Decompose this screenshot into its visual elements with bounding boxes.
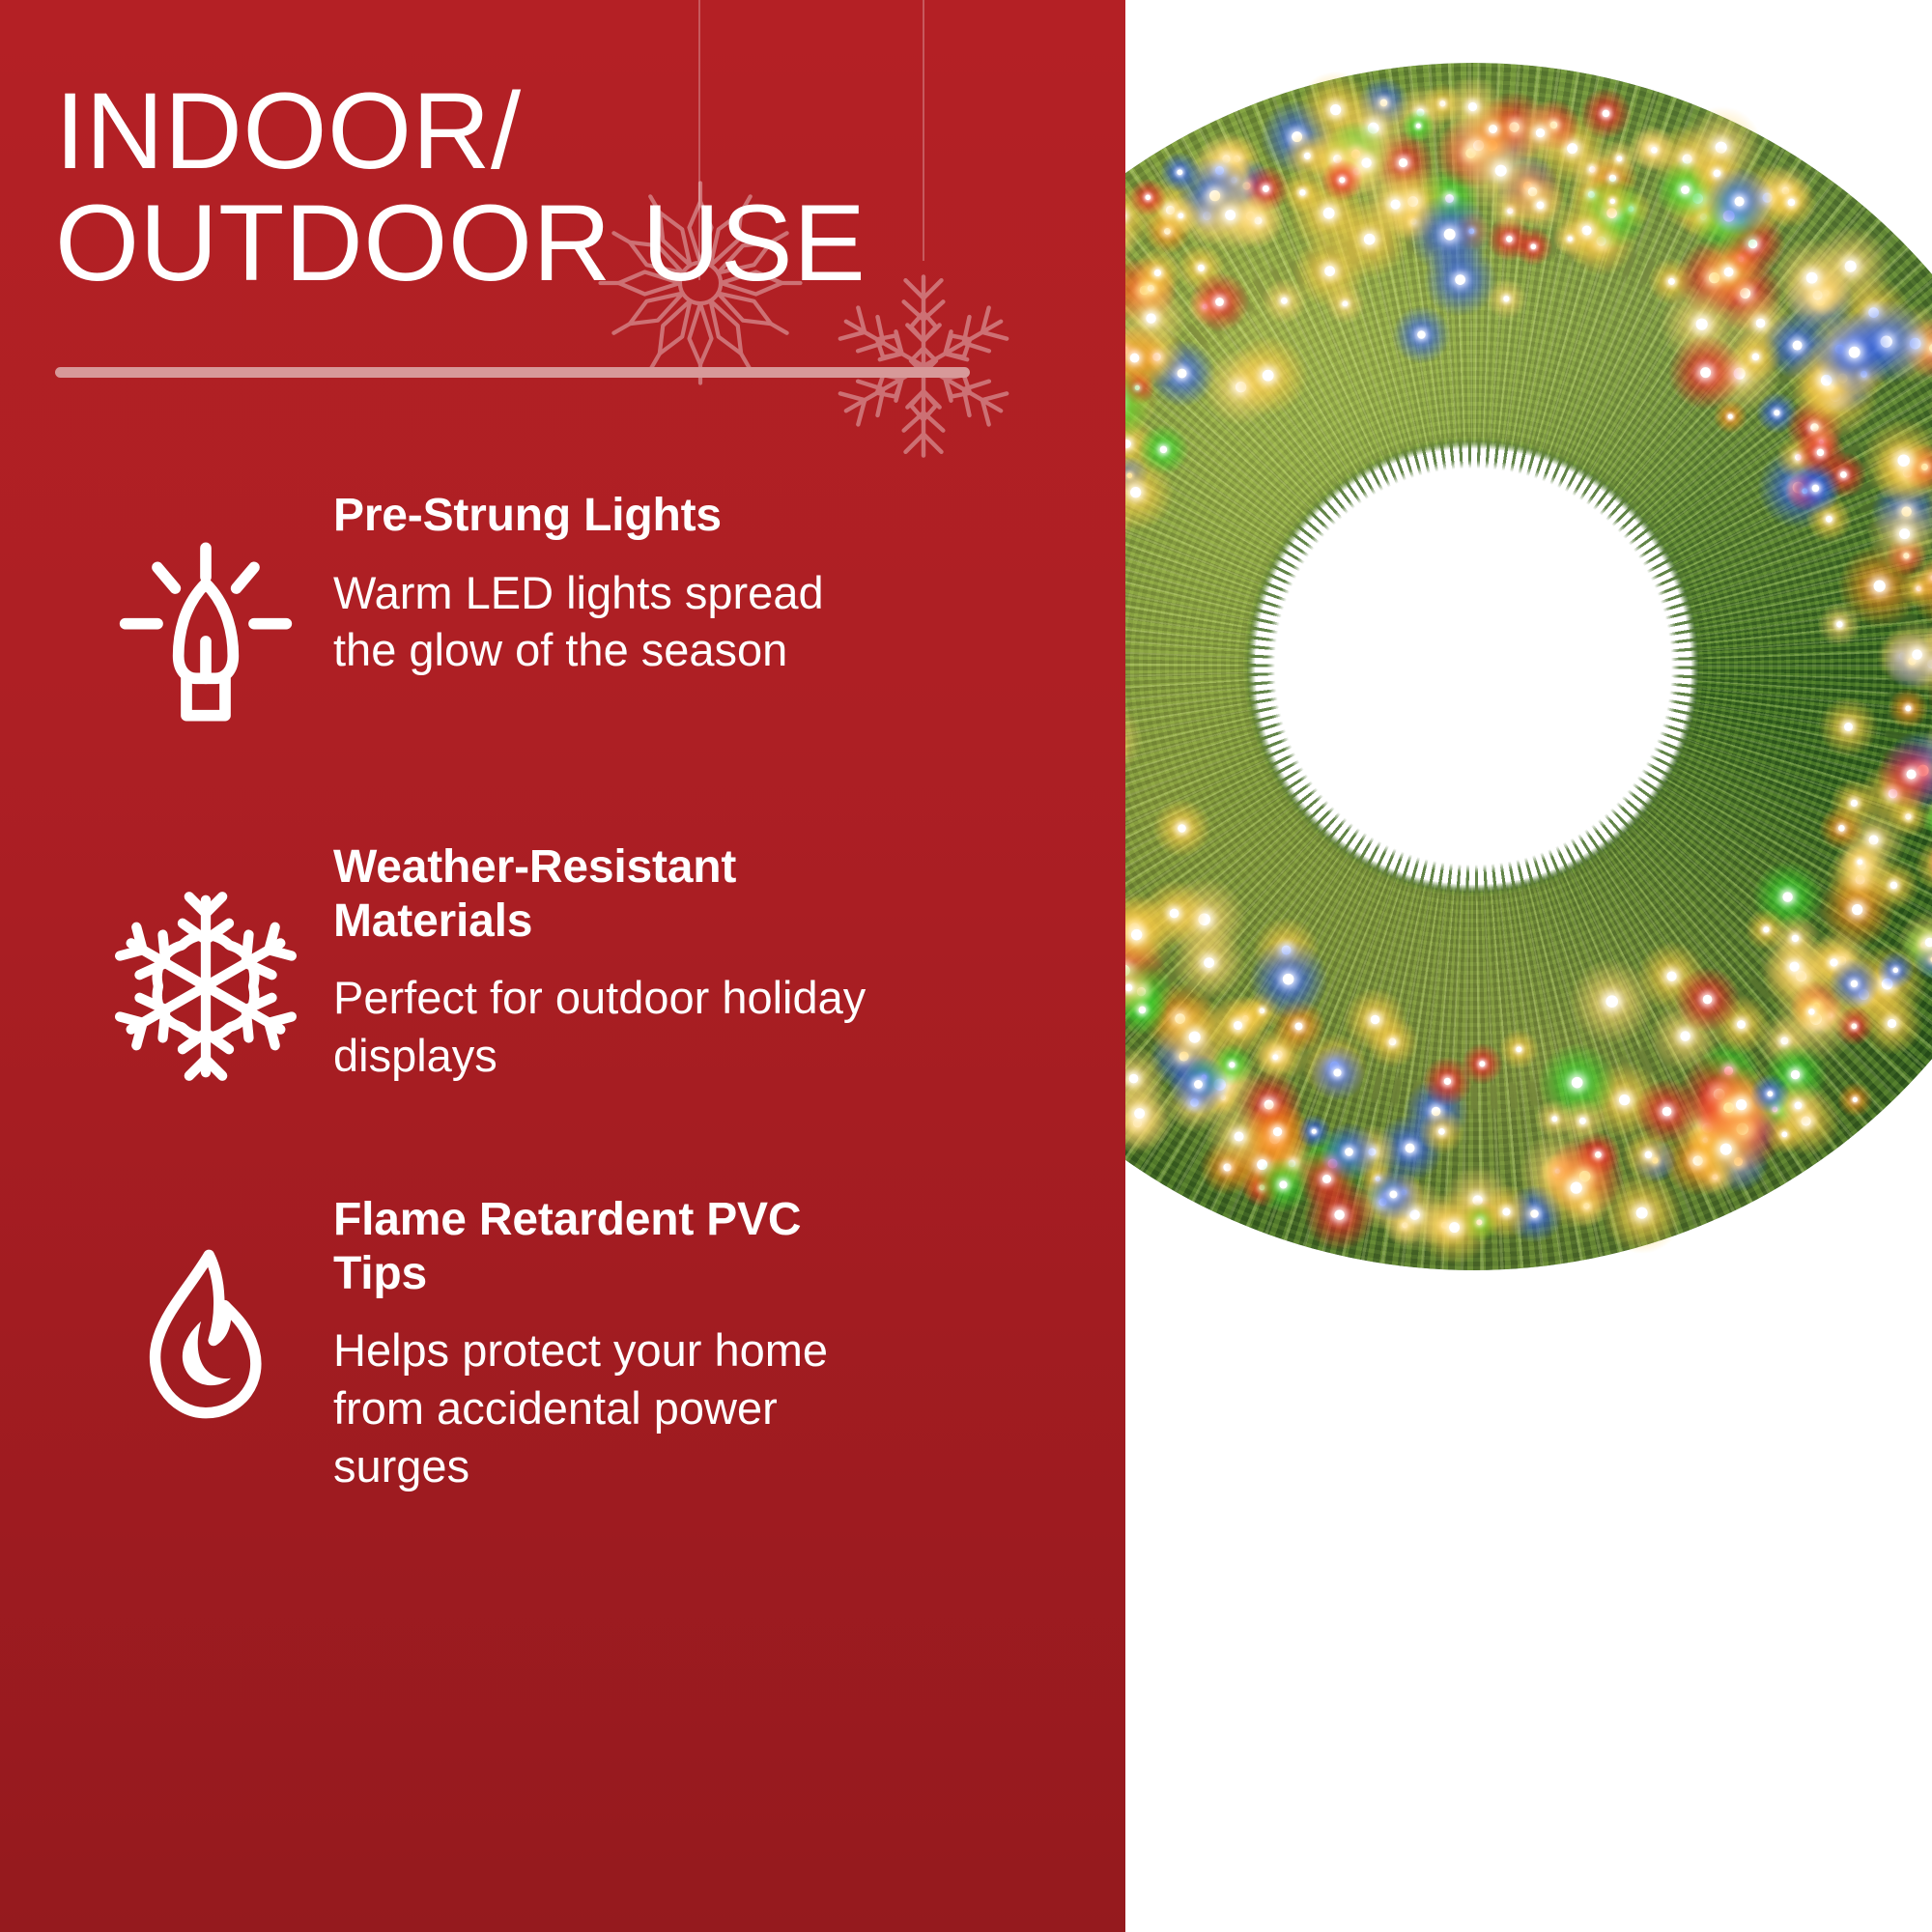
led-bulb xyxy=(1849,901,1864,917)
led-bulb xyxy=(1534,126,1548,139)
infographic-root: INDOOR/ OUTDOOR USE xyxy=(0,0,1932,1932)
led-bulb xyxy=(1514,1045,1522,1054)
led-bulb xyxy=(1856,858,1863,866)
led-bulb xyxy=(1810,483,1821,494)
led-bulb xyxy=(1726,413,1733,420)
led-bulb xyxy=(1894,451,1912,469)
feature-item-pre-strung-lights: Pre-Strung Lights Warm LED lights spread… xyxy=(0,483,1125,728)
led-bulb xyxy=(1567,235,1574,241)
led-bulb xyxy=(1603,991,1620,1009)
led-bulb xyxy=(1415,328,1427,340)
led-bulb xyxy=(1222,207,1237,222)
led-bulb xyxy=(1780,890,1795,904)
led-bulb xyxy=(1196,263,1206,272)
led-bulb xyxy=(1177,212,1184,219)
led-bulb xyxy=(1896,526,1912,541)
feature-text-block: Weather-Resistant Materials Perfect for … xyxy=(320,835,1058,1085)
feature-body: Perfect for outdoor holiday displays xyxy=(333,969,894,1084)
led-bulb xyxy=(1848,979,1859,989)
led-bulb xyxy=(1660,1104,1673,1118)
led-bulb xyxy=(1786,196,1797,207)
led-bulb xyxy=(1700,992,1714,1006)
led-bulb xyxy=(1679,184,1691,196)
led-bulb xyxy=(1322,263,1338,278)
led-bulb xyxy=(1440,225,1457,241)
left-red-panel: INDOOR/ OUTDOOR USE xyxy=(0,0,1125,1932)
led-bulb xyxy=(1331,1066,1343,1078)
led-bulb xyxy=(1227,1061,1236,1069)
led-bulb xyxy=(1280,970,1296,986)
led-bulb xyxy=(1126,1071,1140,1085)
led-bulb xyxy=(1649,145,1658,154)
led-bulb xyxy=(1128,925,1145,942)
feature-title: Pre-Strung Lights xyxy=(333,489,894,543)
led-bulb xyxy=(1731,194,1746,209)
led-bulb xyxy=(1779,1130,1787,1138)
led-bulb xyxy=(1885,1016,1897,1029)
led-bulb xyxy=(1176,821,1187,833)
led-bulb xyxy=(1403,1140,1416,1153)
led-bulb xyxy=(1910,647,1924,662)
led-bulb xyxy=(1277,1179,1289,1190)
led-bulb xyxy=(1534,199,1545,210)
led-bulb xyxy=(1442,1076,1453,1087)
feature-text-block: Pre-Strung Lights Warm LED lights spread… xyxy=(320,483,1058,679)
led-bulb xyxy=(1697,364,1713,380)
page-title: INDOOR/ OUTDOOR USE xyxy=(55,75,1040,300)
led-bulb xyxy=(1766,1090,1774,1097)
led-bulb xyxy=(1144,193,1151,201)
led-bulb xyxy=(1270,1124,1284,1138)
led-bulb xyxy=(1310,1128,1317,1135)
led-bulb xyxy=(1338,176,1347,185)
feature-body: Helps protect your home from accidental … xyxy=(333,1321,894,1494)
led-bulb xyxy=(1327,101,1343,117)
led-bulb xyxy=(1478,1060,1487,1068)
led-bulb xyxy=(1642,1149,1653,1159)
led-bulb xyxy=(1127,351,1141,364)
led-bulb xyxy=(1158,443,1169,454)
led-bulb xyxy=(1192,1077,1205,1090)
led-bulb xyxy=(1185,1028,1202,1044)
led-bulb xyxy=(1922,935,1932,949)
led-bulb xyxy=(1260,366,1276,383)
led-bulb xyxy=(1734,1018,1747,1031)
led-bulb xyxy=(1466,100,1479,113)
led-bulb xyxy=(1361,230,1378,246)
led-bulb xyxy=(1152,268,1162,277)
led-bulb xyxy=(1213,295,1226,307)
led-bulb xyxy=(1790,933,1801,944)
feature-title: Flame Retardent PVC Tips xyxy=(333,1193,894,1300)
led-bulb xyxy=(1750,351,1761,361)
led-bulb xyxy=(1842,721,1855,733)
christmas-light-bulb-icon xyxy=(92,483,320,728)
led-bulb xyxy=(1870,578,1888,595)
led-bulb xyxy=(1846,343,1862,359)
led-bulb xyxy=(1848,798,1858,808)
led-bulb xyxy=(1773,409,1781,417)
led-bulb xyxy=(1615,155,1623,162)
led-bulb xyxy=(1678,1029,1692,1043)
led-bulb xyxy=(1279,296,1289,305)
led-bulb xyxy=(1125,981,1133,992)
led-bulb xyxy=(1502,294,1511,302)
led-bulb xyxy=(1127,484,1143,499)
led-bulb xyxy=(1692,315,1710,332)
led-bulb xyxy=(1891,966,1899,974)
led-bulb xyxy=(1904,703,1913,712)
led-bulb xyxy=(1718,1140,1734,1156)
led-bulb xyxy=(1297,188,1306,197)
led-bulb xyxy=(1806,1007,1815,1015)
led-bulb xyxy=(1567,1179,1584,1197)
led-bulb xyxy=(1753,316,1767,329)
christmas-wreath-image xyxy=(1125,63,1932,1270)
title-divider xyxy=(55,367,970,378)
feature-title: Weather-Resistant Materials xyxy=(333,840,894,948)
product-photo-area xyxy=(1125,0,1932,1932)
led-bulb xyxy=(1824,514,1833,524)
led-bulb xyxy=(1504,234,1513,242)
led-bulb xyxy=(1202,954,1217,970)
feature-item-flame-retardent-pvc-tips: Flame Retardent PVC Tips Helps protect y… xyxy=(0,1187,1125,1494)
led-bulb xyxy=(1804,269,1820,285)
led-bulb xyxy=(1615,1092,1631,1107)
led-bulb xyxy=(1368,1012,1381,1026)
led-bulb xyxy=(1144,311,1158,326)
led-bulb xyxy=(1293,1020,1304,1032)
feature-text-block: Flame Retardent PVC Tips Helps protect y… xyxy=(320,1187,1058,1494)
led-bulb xyxy=(1500,1206,1512,1217)
led-bulb xyxy=(1834,620,1843,629)
led-bulb xyxy=(1633,1204,1649,1220)
led-bulb xyxy=(1569,1073,1585,1090)
snowflake-icon xyxy=(92,835,320,1086)
led-bulb xyxy=(1387,1188,1399,1200)
feature-item-weather-resistant-materials: Weather-Resistant Materials Perfect for … xyxy=(0,835,1125,1086)
led-bulb xyxy=(1342,1146,1353,1157)
flame-icon xyxy=(92,1187,320,1429)
led-bulb xyxy=(1851,1095,1859,1103)
feature-list: Pre-Strung Lights Warm LED lights spread… xyxy=(0,483,1125,1494)
led-bulb xyxy=(1415,123,1422,129)
led-bulb xyxy=(1792,1099,1803,1110)
led-bulb xyxy=(1270,1052,1279,1061)
led-bulb xyxy=(1359,156,1374,170)
led-bulb xyxy=(1663,968,1678,982)
feature-body: Warm LED lights spread the glow of the s… xyxy=(333,564,894,679)
led-bulb xyxy=(1331,1207,1346,1221)
led-bulb xyxy=(1904,767,1918,781)
led-bulb xyxy=(1600,108,1610,119)
led-bulb xyxy=(1436,1126,1446,1136)
led-bulb xyxy=(1577,1116,1587,1125)
led-bulb xyxy=(1814,447,1825,458)
